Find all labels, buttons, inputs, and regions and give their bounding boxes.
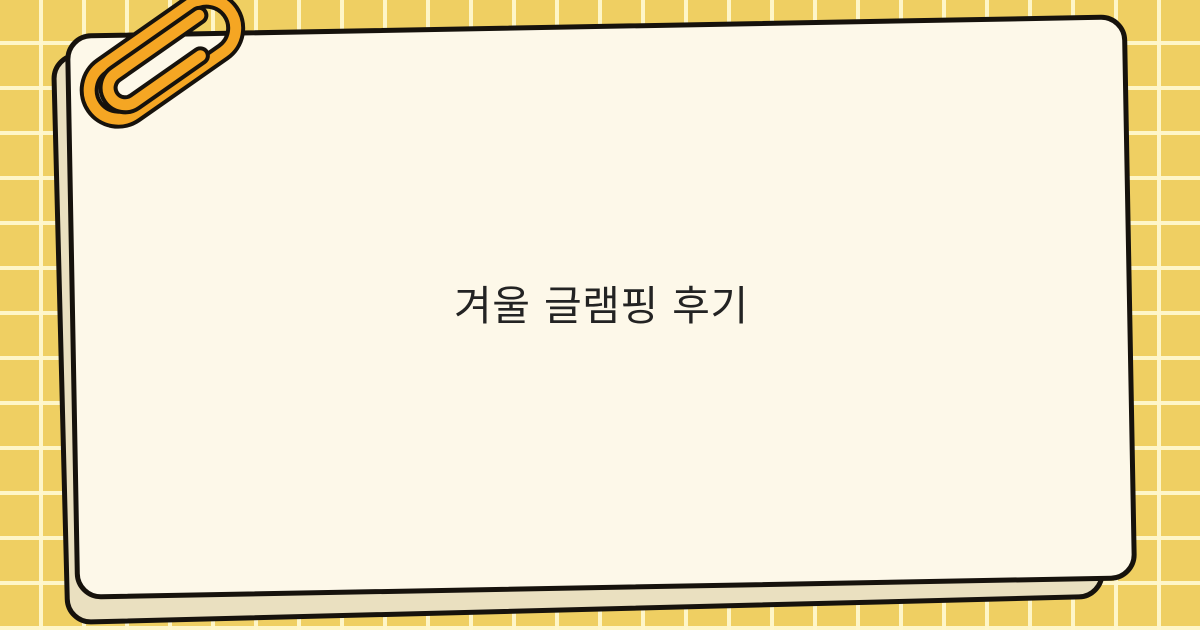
poster-canvas: 겨울 글램핑 후기 [0,0,1200,630]
card-title: 겨울 글램핑 후기 [414,279,789,334]
note-card: 겨울 글램핑 후기 [65,14,1137,599]
note-card-stack: 겨울 글램핑 후기 [0,0,1200,630]
